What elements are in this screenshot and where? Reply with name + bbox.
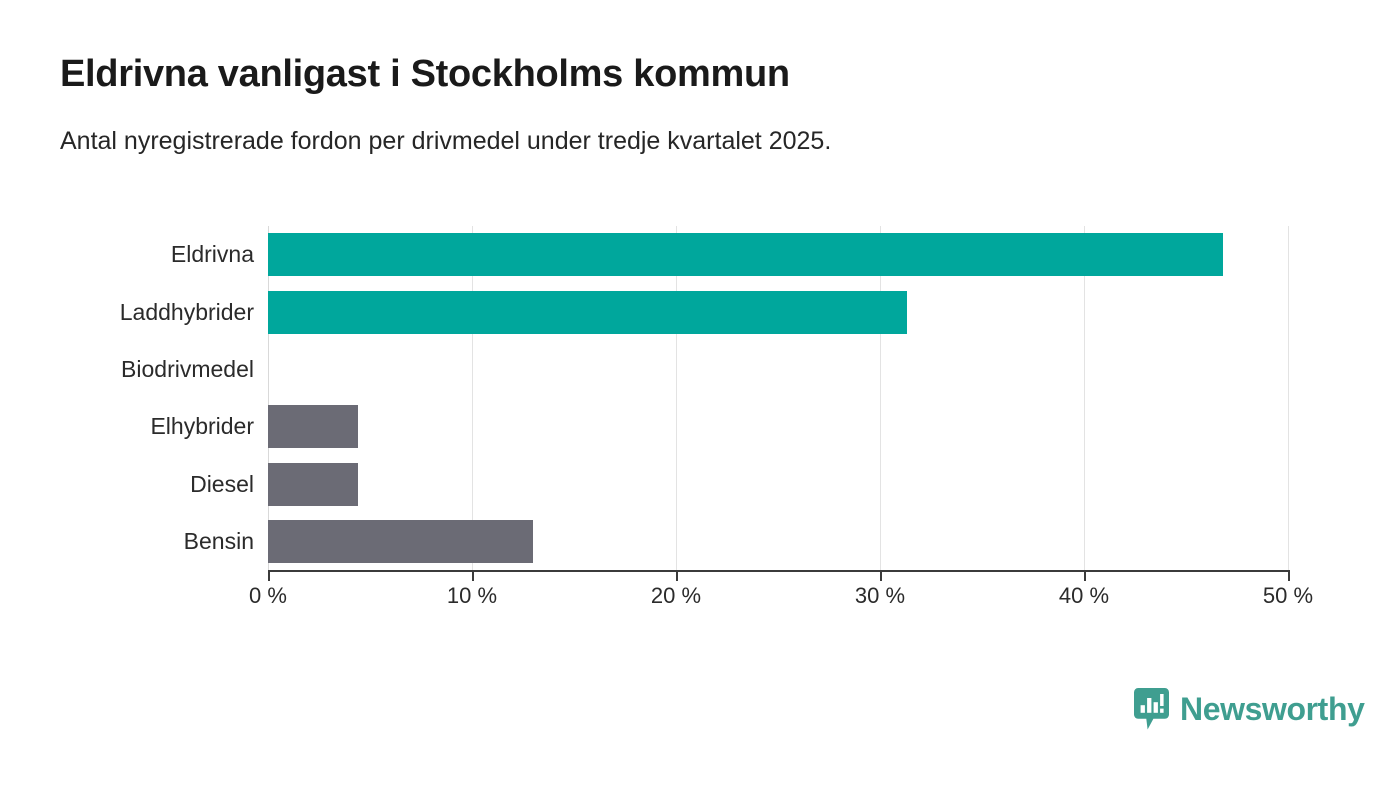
newsworthy-logo: Newsworthy bbox=[1134, 688, 1365, 730]
x-axis-tick-label: 40 % bbox=[1059, 583, 1109, 609]
gridline bbox=[676, 226, 677, 570]
y-axis-label-bensin: Bensin bbox=[0, 520, 254, 563]
x-axis-tick-label: 50 % bbox=[1263, 583, 1313, 609]
x-axis-tick bbox=[676, 570, 678, 581]
bar-row[interactable] bbox=[268, 233, 1288, 276]
gridline bbox=[880, 226, 881, 570]
x-axis-tick-label: 30 % bbox=[855, 583, 905, 609]
gridline bbox=[1084, 226, 1085, 570]
bar-row[interactable] bbox=[268, 348, 1288, 391]
bar-bensin[interactable] bbox=[268, 520, 533, 563]
y-axis-label-biodrivmedel: Biodrivmedel bbox=[0, 348, 254, 391]
bar-chart: EldrivnaLaddhybriderBiodrivmedelElhybrid… bbox=[0, 0, 1400, 793]
bar-row[interactable] bbox=[268, 463, 1288, 506]
bar-row[interactable] bbox=[268, 291, 1288, 334]
gridline bbox=[1288, 226, 1289, 570]
gridline bbox=[268, 226, 269, 570]
bar-diesel[interactable] bbox=[268, 463, 358, 506]
bar-elhybrider[interactable] bbox=[268, 405, 358, 448]
y-axis-label-eldrivna: Eldrivna bbox=[0, 233, 254, 276]
bar-row[interactable] bbox=[268, 520, 1288, 563]
bar-laddhybrider[interactable] bbox=[268, 291, 907, 334]
bar-row[interactable] bbox=[268, 405, 1288, 448]
x-axis-tick-label: 10 % bbox=[447, 583, 497, 609]
x-axis-line bbox=[268, 570, 1289, 572]
x-axis-tick-label: 20 % bbox=[651, 583, 701, 609]
y-axis-label-elhybrider: Elhybrider bbox=[0, 405, 254, 448]
bar-eldrivna[interactable] bbox=[268, 233, 1223, 276]
bar-chart-speech-bubble-icon bbox=[1134, 688, 1169, 730]
chart-page: Eldrivna vanligast i Stockholms kommun A… bbox=[0, 0, 1400, 793]
x-axis-tick bbox=[880, 570, 882, 581]
plot-area bbox=[268, 226, 1288, 570]
x-axis-tick bbox=[1084, 570, 1086, 581]
gridline bbox=[472, 226, 473, 570]
y-axis-labels: EldrivnaLaddhybriderBiodrivmedelElhybrid… bbox=[0, 226, 254, 570]
x-axis-tick bbox=[268, 570, 270, 581]
x-axis-tick bbox=[1288, 570, 1290, 581]
y-axis-label-laddhybrider: Laddhybrider bbox=[0, 291, 254, 334]
x-axis-tick bbox=[472, 570, 474, 581]
x-axis-tick-label: 0 % bbox=[249, 583, 287, 609]
y-axis-label-diesel: Diesel bbox=[0, 463, 254, 506]
brand-wordmark: Newsworthy bbox=[1180, 693, 1365, 725]
